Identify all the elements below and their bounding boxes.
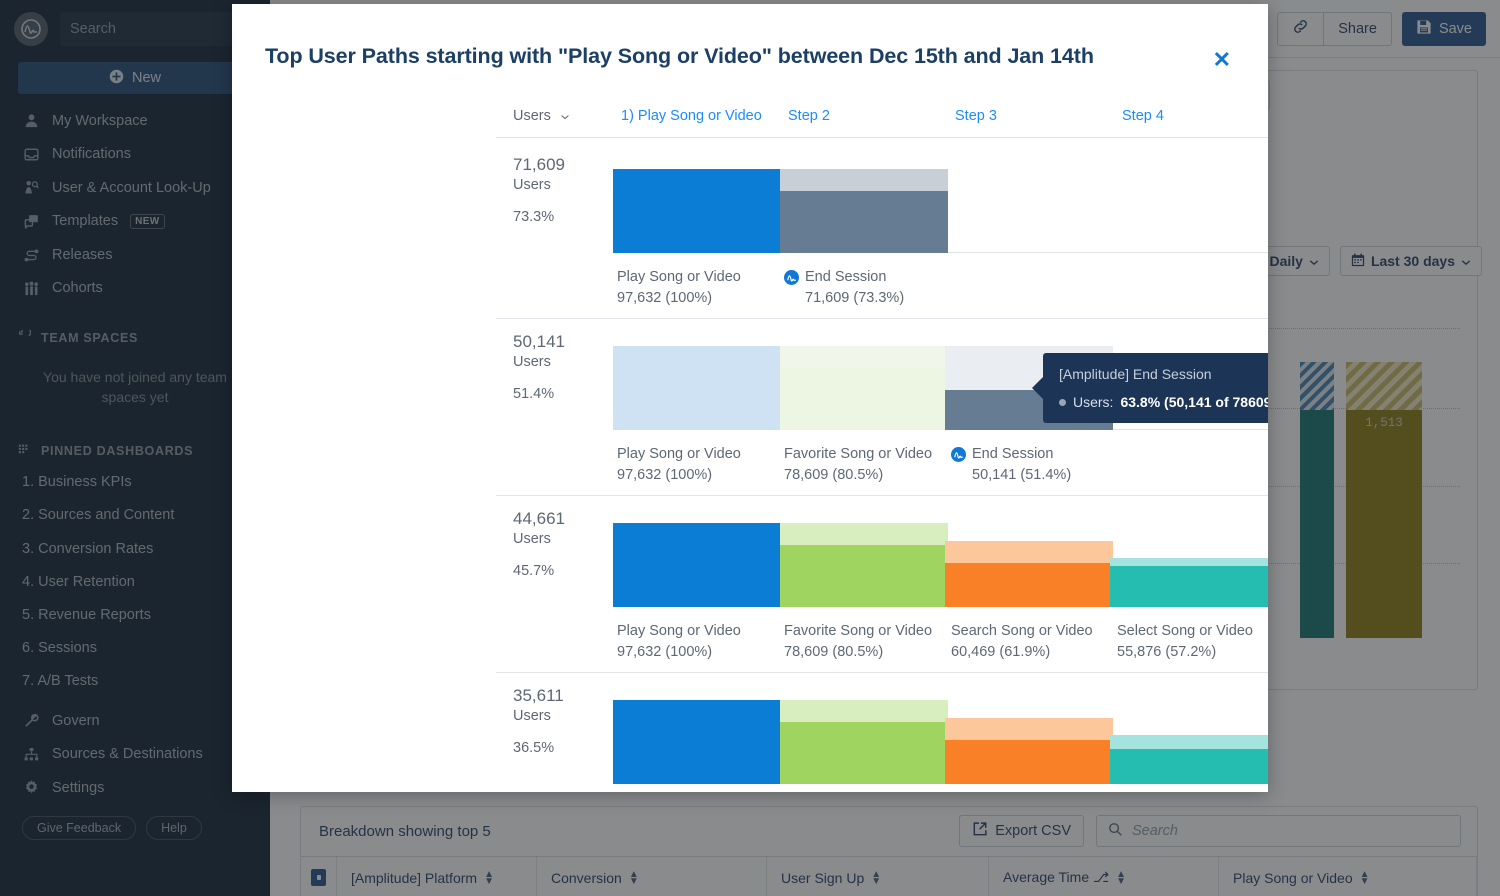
user-paths-modal: Top User Paths starting with "Play Song … [232, 4, 1268, 792]
path-row-metrics: 71,609 Users 73.3% [513, 155, 609, 225]
path-step-label-2: Favorite Song or Video 78,609 (80.5%) [784, 621, 932, 663]
path-bar-step-3[interactable] [945, 541, 1113, 607]
step-label: Play Song or Video [617, 444, 741, 465]
amplitude-event-icon [784, 270, 799, 285]
path-row-metrics: 44,661 Users 45.7% [513, 509, 609, 579]
step-value: 97,632 (100%) [617, 642, 741, 663]
step-header-4[interactable]: Step 4 [1122, 108, 1164, 124]
path-bar-step-2[interactable] [780, 523, 948, 607]
step-label: Search Song or Video [951, 621, 1093, 642]
path-bar-step-4[interactable] [1110, 735, 1268, 784]
step-label: Favorite Song or Video [784, 444, 932, 465]
path-users-unit: Users [513, 175, 609, 196]
users-column-selector[interactable]: Users [513, 108, 570, 124]
step-label: Play Song or Video [617, 621, 741, 642]
path-row-metrics: 50,141 Users 51.4% [513, 332, 609, 402]
path-users-pct: 36.5% [513, 740, 609, 756]
path-step-label-3: Search Song or Video 60,469 (61.9%) [951, 621, 1093, 663]
paths-column-headers: Users 1) Play Song or Video Step 2 Step … [496, 108, 1268, 138]
path-bar-step-2[interactable] [780, 346, 948, 430]
path-step-label-2: Favorite Song or Video 78,609 (80.5%) [784, 444, 932, 486]
step-label: Select Song or Video [1117, 621, 1253, 642]
path-users-unit: Users [513, 706, 609, 727]
close-icon[interactable]: ✕ [1213, 49, 1231, 71]
path-step-label-4: Select Song or Video 55,876 (57.2%) [1117, 621, 1253, 663]
path-users-count: 50,141 [513, 332, 609, 352]
step-value: 97,632 (100%) [617, 288, 741, 309]
step-label: End Session [805, 267, 886, 288]
amplitude-event-icon [951, 447, 966, 462]
path-step-label-1: Play Song or Video 97,632 (100%) [617, 621, 741, 663]
tooltip-title: [Amplitude] End Session [1059, 364, 1268, 384]
path-row[interactable]: 44,661 Users 45.7% [496, 497, 1268, 673]
path-users-pct: 45.7% [513, 563, 609, 579]
step-value: 78,609 (80.5%) [784, 642, 932, 663]
tooltip-arrow [1032, 377, 1043, 399]
path-bar-step-2[interactable] [780, 700, 948, 784]
tooltip-bullet-icon [1059, 399, 1066, 406]
path-users-count: 35,611 [513, 686, 609, 706]
path-step-label-3: End Session 50,141 (51.4%) [951, 444, 1071, 486]
path-step-label-2: End Session 71,609 (73.3%) [784, 267, 904, 309]
path-row-metrics: 35,611 Users 36.5% [513, 686, 609, 756]
chevron-down-icon [560, 108, 570, 124]
step-value: 50,141 (51.4%) [951, 465, 1071, 486]
step-label: Favorite Song or Video [784, 621, 932, 642]
path-bar-step-1[interactable] [613, 700, 780, 784]
step-label: Play Song or Video [617, 267, 741, 288]
step-header-2[interactable]: Step 2 [788, 108, 830, 124]
step-value: 78,609 (80.5%) [784, 465, 932, 486]
path-users-unit: Users [513, 529, 609, 550]
step-value: 97,632 (100%) [617, 465, 741, 486]
path-bar-step-4[interactable] [1110, 558, 1268, 607]
path-bar-step-1[interactable] [613, 523, 780, 607]
path-step-label-1: Play Song or Video 97,632 (100%) [617, 444, 741, 486]
path-row[interactable]: 71,609 Users 73.3% Play Song or Video 97… [496, 143, 1268, 319]
step-value: 55,876 (57.2%) [1117, 642, 1253, 663]
path-users-count: 44,661 [513, 509, 609, 529]
step-header-3[interactable]: Step 3 [955, 108, 997, 124]
step-header-1[interactable]: 1) Play Song or Video [621, 108, 762, 124]
step-label: End Session [972, 444, 1053, 465]
path-users-pct: 51.4% [513, 386, 609, 402]
path-users-unit: Users [513, 352, 609, 373]
chart-tooltip: [Amplitude] End Session Users: 63.8% (50… [1043, 353, 1268, 423]
modal-title: Top User Paths starting with "Play Song … [232, 4, 1268, 69]
path-bar-step-1[interactable] [613, 346, 780, 430]
path-bar-step-2[interactable] [780, 169, 948, 253]
step-value: 71,609 (73.3%) [784, 288, 904, 309]
path-bar-step-1[interactable] [613, 169, 780, 253]
path-row[interactable]: 35,611 Users 36.5% [496, 674, 1268, 792]
tooltip-metric: Users: 63.8% (50,141 of 78609) [1059, 394, 1268, 410]
users-column-label: Users [513, 108, 551, 124]
path-step-label-1: Play Song or Video 97,632 (100%) [617, 267, 741, 309]
step-value: 60,469 (61.9%) [951, 642, 1093, 663]
tooltip-metric-value: 63.8% (50,141 of 78609) [1120, 394, 1268, 410]
tooltip-metric-label: Users: [1073, 394, 1113, 410]
path-users-count: 71,609 [513, 155, 609, 175]
path-users-pct: 73.3% [513, 209, 609, 225]
path-bar-step-3[interactable] [945, 718, 1113, 784]
